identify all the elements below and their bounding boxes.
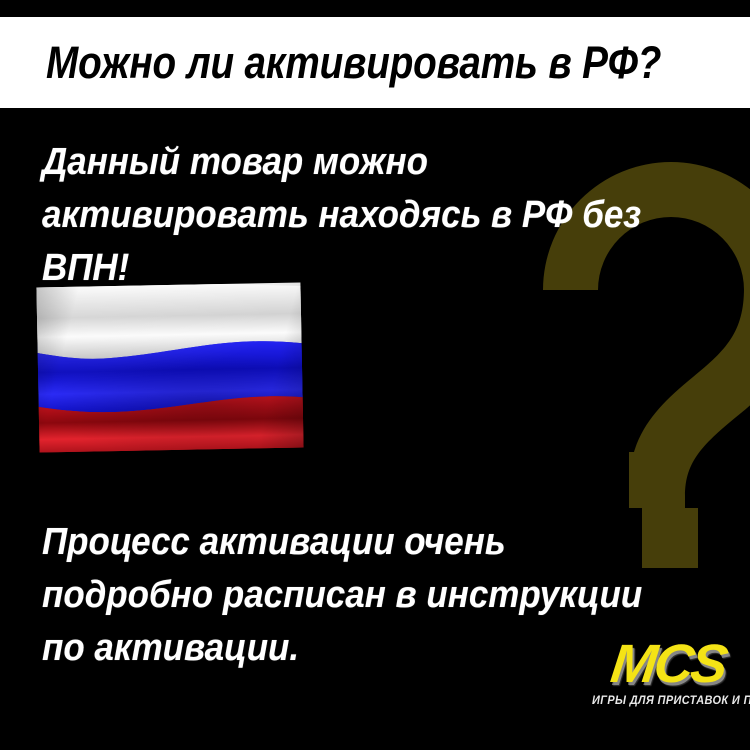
flag-inner [36,282,303,452]
logo-wordmark: MCS [583,636,750,692]
russian-flag [36,282,303,452]
brand-logo: MCS ИГРЫ ДЛЯ ПРИСТАВОК И ПК [588,636,748,707]
flag-shading [36,282,303,452]
logo-tagline: ИГРЫ ДЛЯ ПРИСТАВОК И ПК [592,695,744,707]
top-black-strip [0,0,750,17]
page-title: Можно ли активировать в РФ? [46,40,661,85]
promo-banner: Можно ли активировать в РФ? Данный товар… [0,0,750,750]
intro-text: Данный товар можно активировать находясь… [42,136,668,295]
header-band: Можно ли активировать в РФ? [0,17,750,108]
